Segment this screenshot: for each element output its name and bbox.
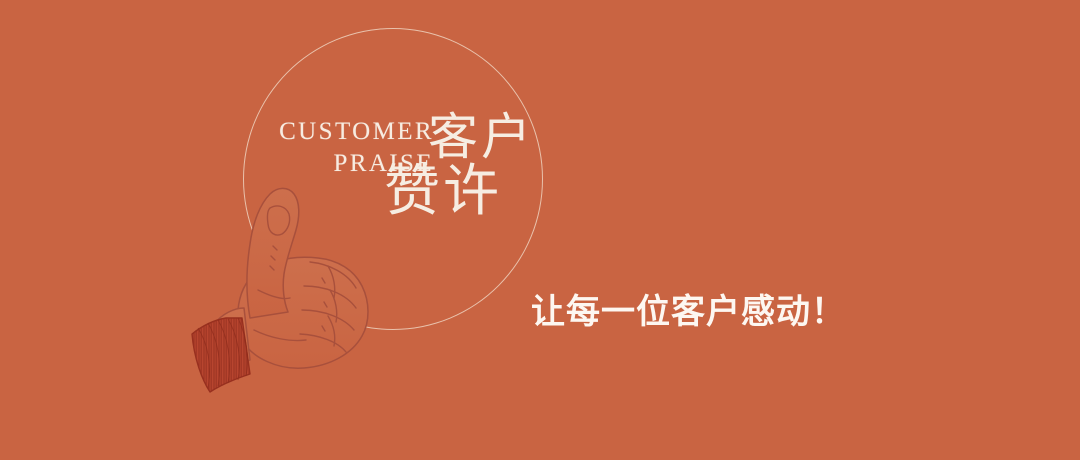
chinese-headline-line-1: 客户 bbox=[428, 108, 576, 166]
chinese-headline: 客户 赞许 bbox=[426, 108, 576, 222]
english-headline-line-1: CUSTOMER bbox=[252, 116, 434, 148]
sleeve-cuff bbox=[192, 318, 250, 392]
tagline-text: 让每一位客户感动！ bbox=[531, 284, 846, 333]
chinese-headline-line-2: 赞许 bbox=[384, 162, 576, 222]
headline-block: CUSTOMER PRAISE 客户 赞许 bbox=[252, 108, 552, 248]
customer-praise-banner: CUSTOMER PRAISE 客户 赞许 让每一位客户感动！ bbox=[0, 0, 1080, 460]
